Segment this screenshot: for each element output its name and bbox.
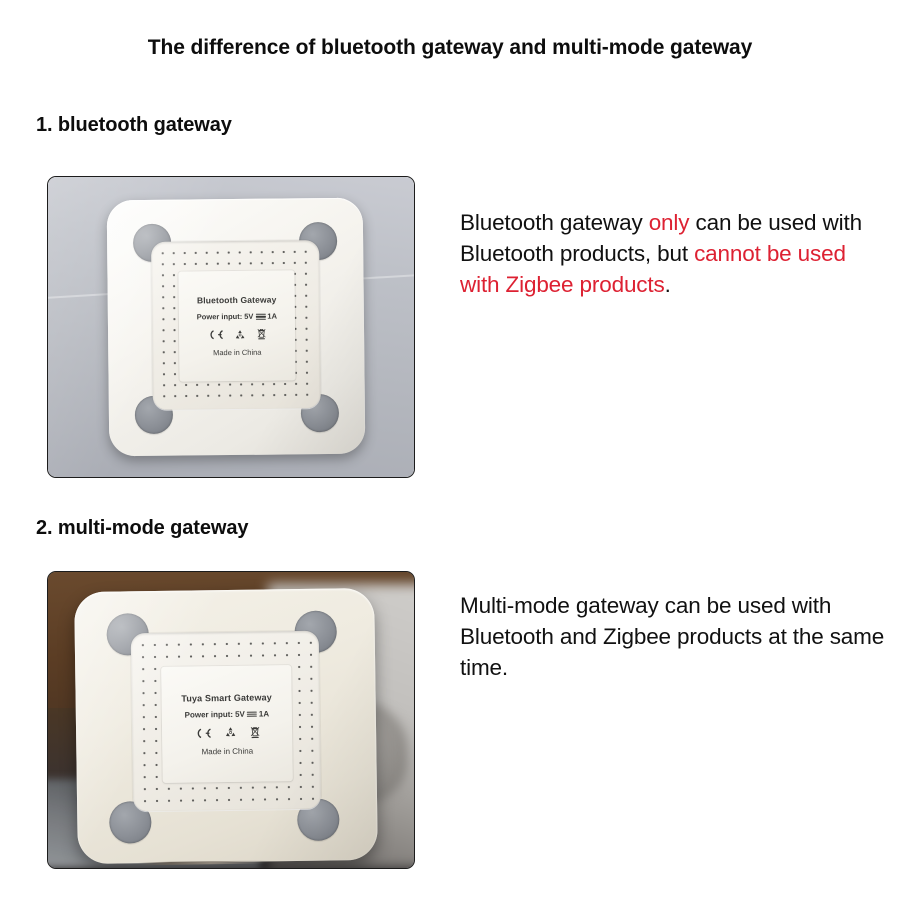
label-country-of-origin: Made in China bbox=[213, 348, 261, 358]
label-power-voltage: 5V bbox=[235, 709, 245, 718]
copy-text-part-3: . bbox=[665, 272, 671, 297]
dc-current-icon bbox=[255, 313, 265, 320]
description-multi-mode-gateway: Multi-mode gateway can be used with Blue… bbox=[460, 590, 888, 683]
label-product-name: Bluetooth Gateway bbox=[197, 295, 277, 306]
label-power-input: Power input: 5V 1A bbox=[197, 312, 277, 322]
description-bluetooth-gateway: Bluetooth gateway only can be used with … bbox=[460, 207, 888, 300]
product-label-plate: Tuya Smart Gateway Power input: 5V 1A bbox=[161, 665, 293, 783]
label-country-of-origin: Made in China bbox=[201, 746, 253, 756]
photo-inner: Bluetooth Gateway Power input: 5V 1A bbox=[48, 177, 414, 477]
label-power-input: Power input: 5V 1A bbox=[185, 709, 270, 719]
weee-crossed-out-bin-icon bbox=[256, 328, 267, 341]
label-power-current: 1A bbox=[267, 312, 277, 321]
label-power-current: 1A bbox=[259, 709, 269, 718]
section-heading-multi-mode-gateway: 2. multi-mode gateway bbox=[36, 517, 248, 540]
bluetooth-gateway-device: Bluetooth Gateway Power input: 5V 1A bbox=[107, 198, 366, 457]
recycle-mark-icon bbox=[234, 328, 246, 340]
copy-text-part-1: Bluetooth gateway bbox=[460, 210, 649, 235]
label-power-voltage: 5V bbox=[244, 312, 253, 321]
photo-bluetooth-gateway: Bluetooth Gateway Power input: 5V 1A bbox=[47, 176, 415, 478]
copy-emphasis-only: only bbox=[649, 210, 690, 235]
label-power-prefix: Power input: bbox=[185, 709, 234, 719]
product-label-plate: Bluetooth Gateway Power input: 5V 1A bbox=[178, 270, 295, 381]
label-compliance-marks bbox=[207, 328, 267, 342]
ce-mark-icon bbox=[207, 329, 224, 340]
recessed-vent-panel: Tuya Smart Gateway Power input: 5V 1A bbox=[131, 631, 321, 812]
dc-current-icon bbox=[247, 710, 257, 717]
copy-text-part-1: Multi-mode gateway can be used with Blue… bbox=[460, 593, 884, 680]
photo-multi-mode-gateway: Tuya Smart Gateway Power input: 5V 1A bbox=[47, 571, 415, 869]
label-power-prefix: Power input: bbox=[197, 312, 243, 321]
page-title: The difference of bluetooth gateway and … bbox=[0, 36, 900, 60]
multi-mode-gateway-device: Tuya Smart Gateway Power input: 5V 1A bbox=[74, 588, 378, 864]
recycle-mark-icon bbox=[224, 726, 237, 739]
photo-inner: Tuya Smart Gateway Power input: 5V 1A bbox=[48, 572, 414, 868]
label-product-name: Tuya Smart Gateway bbox=[181, 692, 272, 703]
ce-mark-icon bbox=[194, 727, 212, 739]
recessed-vent-panel: Bluetooth Gateway Power input: 5V 1A bbox=[151, 240, 321, 410]
section-heading-bluetooth-gateway: 1. bluetooth gateway bbox=[36, 114, 232, 137]
label-compliance-marks bbox=[193, 725, 260, 740]
weee-crossed-out-bin-icon bbox=[248, 725, 260, 739]
